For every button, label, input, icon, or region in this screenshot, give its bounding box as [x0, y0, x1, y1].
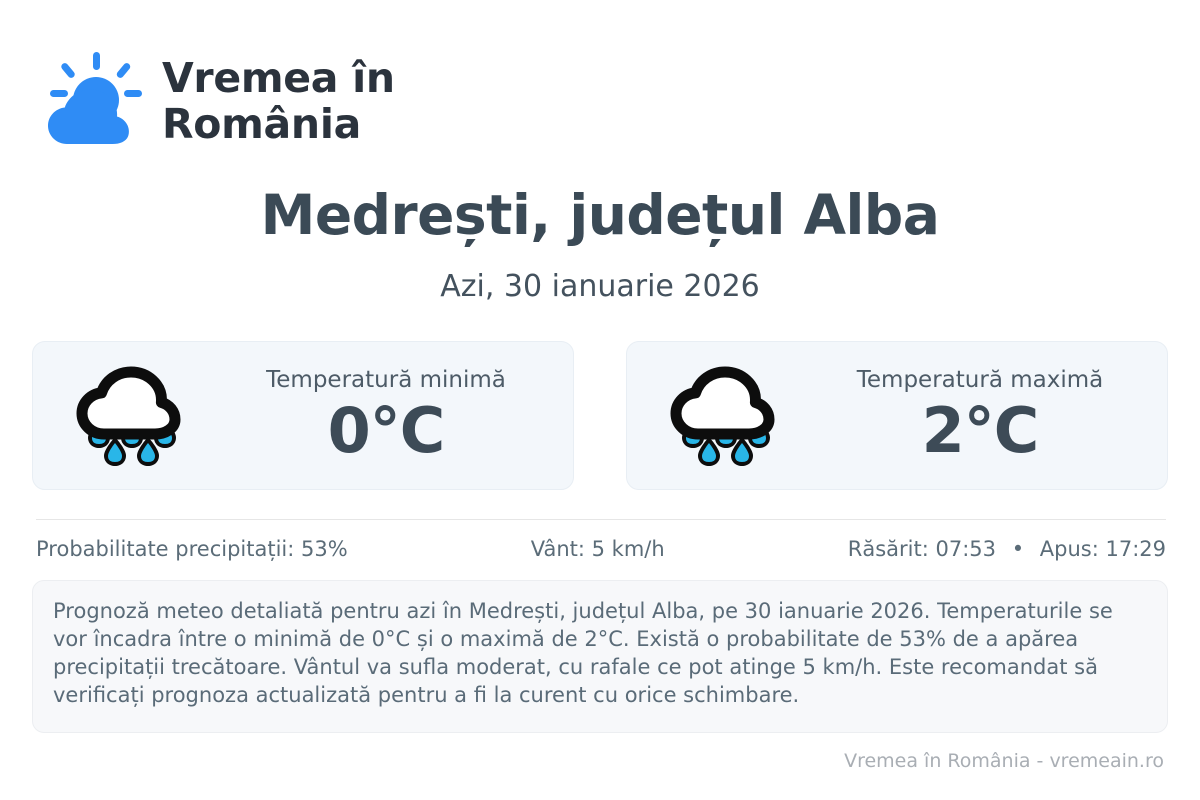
sunset-value: Apus: 17:29: [1040, 537, 1166, 561]
temperature-min-body: Temperatură minimă 0°C: [217, 368, 555, 462]
temperature-cards: Temperatură minimă 0°C: [32, 341, 1168, 490]
temperature-max-card: Temperatură maximă 2°C: [626, 341, 1168, 490]
precipitation-stat: Probabilitate precipitații: 53%: [36, 537, 348, 562]
sun-cloud-icon: [36, 50, 144, 154]
temperature-max-value: 2°C: [922, 398, 1039, 463]
rain-cloud-icon: [73, 363, 191, 469]
temperature-max-label: Temperatură maximă: [857, 368, 1103, 393]
brand-logo[interactable]: Vremea în România: [36, 50, 395, 154]
wind-stat: Vânt: 5 km/h: [348, 537, 848, 562]
stats-row: Probabilitate precipitații: 53% Vânt: 5 …: [36, 537, 1166, 562]
footer-credit: Vremea în România - vremeain.ro: [844, 750, 1164, 773]
weather-page: Vremea în România Medrești, județul Alba…: [0, 0, 1200, 800]
brand-name: Vremea în România: [162, 56, 395, 148]
forecast-description-text: Prognoză meteo detaliată pentru azi în M…: [53, 597, 1143, 710]
forecast-description-panel: Prognoză meteo detaliată pentru azi în M…: [32, 580, 1168, 733]
rain-cloud-icon: [667, 363, 785, 469]
temperature-min-card: Temperatură minimă 0°C: [32, 341, 574, 490]
page-subtitle: Azi, 30 ianuarie 2026: [0, 270, 1200, 303]
stats-divider: [36, 519, 1166, 520]
title-block: Medrești, județul Alba Azi, 30 ianuarie …: [0, 185, 1200, 303]
sunrise-value: Răsărit: 07:53: [848, 537, 996, 561]
temperature-min-label: Temperatură minimă: [266, 368, 506, 393]
page-title: Medrești, județul Alba: [0, 185, 1200, 246]
sun-separator-icon: •: [1012, 537, 1024, 562]
temperature-min-value: 0°C: [328, 398, 445, 463]
sun-times-stat: Răsărit: 07:53 • Apus: 17:29: [848, 537, 1166, 562]
temperature-max-body: Temperatură maximă 2°C: [811, 368, 1149, 462]
